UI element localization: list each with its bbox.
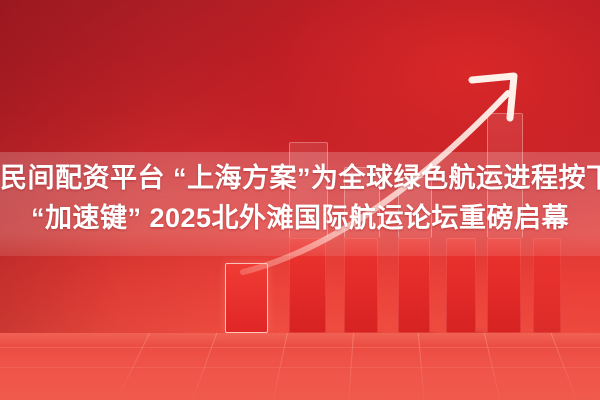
headline: 民间配资平台 “上海方案”为全球绿色航运进程按下 “加速键” 2025北外滩国际… <box>0 158 600 238</box>
floor-horizontal-line <box>0 347 600 348</box>
floor-horizontal-line <box>0 367 600 368</box>
bar-1 <box>225 263 268 333</box>
banner-image: 民间配资平台 “上海方案”为全球绿色航运进程按下 “加速键” 2025北外滩国际… <box>0 0 600 400</box>
headline-line-1: 民间配资平台 “上海方案”为全球绿色航运进程按下 <box>0 163 600 193</box>
perspective-floor <box>0 333 600 400</box>
headline-line-2: “加速键” 2025北外滩国际航运论坛重磅启幕 <box>0 198 600 238</box>
floor-glow <box>0 333 600 347</box>
